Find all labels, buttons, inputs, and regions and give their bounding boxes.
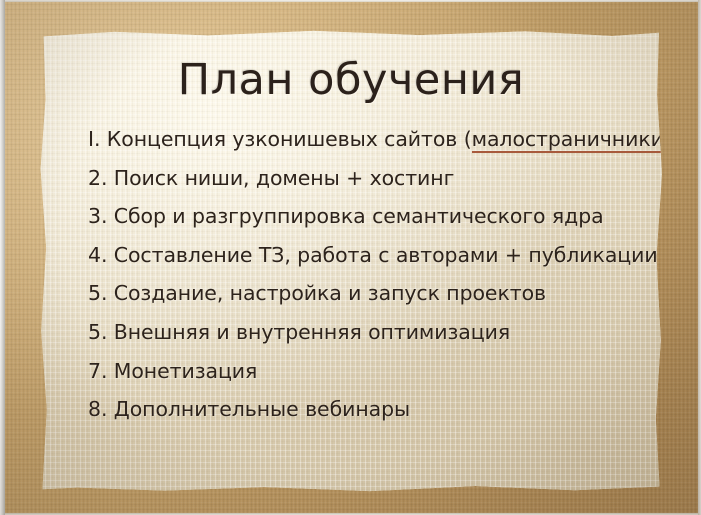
agenda-item-text: Создание, настройка и запуск проектов: [114, 281, 546, 305]
agenda-item-number: 7.: [88, 359, 107, 383]
agenda-item-text: Внешняя и внутренняя оптимизация: [114, 320, 510, 344]
agenda-item-text-suffix: ): [664, 127, 672, 151]
agenda-list-item: 8. Дополнительные вебинары: [88, 390, 648, 429]
agenda-item-text: Поиск ниши, домены + хостинг: [114, 166, 454, 190]
agenda-item-text: Монетизация: [114, 359, 257, 383]
agenda-list-item: 7. Монетизация: [88, 352, 648, 391]
paper-sheet-surface: План обучения I. Концепция узконишевых с…: [40, 30, 662, 493]
agenda-list-item: I. Концепция узконишевых сайтов (малостр…: [88, 120, 648, 159]
agenda-item-number: 2.: [88, 166, 107, 190]
agenda-list-item: 2. Поиск ниши, домены + хостинг: [88, 159, 648, 198]
agenda-item-number: I.: [88, 127, 100, 151]
agenda-item-number: 8.: [88, 397, 107, 421]
agenda-item-text: Дополнительные вебинары: [114, 397, 410, 421]
agenda-item-number: 3.: [88, 204, 107, 228]
agenda-list-item: 4. Составление ТЗ, работа с авторами + п…: [88, 236, 648, 275]
agenda-item-text: Составление ТЗ, работа с авторами + публ…: [114, 243, 658, 267]
agenda-item-text: Сбор и разгруппировка семантического ядр…: [114, 204, 604, 228]
agenda-item-number: 4.: [88, 243, 107, 267]
agenda-list: I. Концепция узконишевых сайтов (малостр…: [88, 120, 648, 429]
agenda-list-item: 3. Сбор и разгруппировка семантического …: [88, 197, 648, 236]
agenda-list-item: 5. Создание, настройка и запуск проектов: [88, 274, 648, 313]
presentation-slide: План обучения I. Концепция узконишевых с…: [0, 0, 701, 515]
agenda-item-number: 5.: [88, 281, 107, 305]
agenda-item-number: 5.: [88, 320, 107, 344]
agenda-item-underlined-word: малостраничники: [472, 127, 664, 153]
paper-sheet: План обучения I. Концепция узконишевых с…: [40, 30, 662, 493]
slide-title: План обучения: [40, 55, 662, 105]
agenda-list-item: 5. Внешняя и внутренняя оптимизация: [88, 313, 648, 352]
kraft-paper-background: План обучения I. Концепция узконишевых с…: [5, 2, 698, 513]
agenda-item-text: Концепция узконишевых сайтов (: [107, 127, 472, 151]
